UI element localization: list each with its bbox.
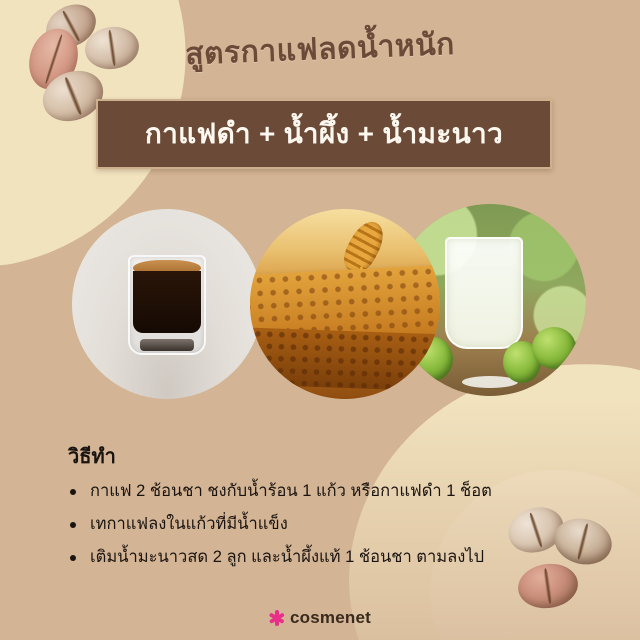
espresso-glass-icon <box>128 255 206 355</box>
instructions-list: กาแฟ 2 ช้อนชา ชงกับน้ำร้อน 1 แก้ว หรือกา… <box>68 480 600 570</box>
list-item-text: กาแฟ 2 ช้อนชา ชงกับน้ำร้อน 1 แก้ว หรือกา… <box>90 482 492 500</box>
list-item: เทกาแฟลงในแก้วที่มีน้ำแข็ง <box>90 513 600 537</box>
brand-logo: cosmenet <box>0 608 640 628</box>
ingredient-photo-row <box>0 200 640 410</box>
lime-fruit-icon <box>532 327 576 369</box>
recipe-banner-label: กาแฟดำ + น้ำผึ้ง + น้ำมะนาว <box>145 112 503 156</box>
instructions-title: วิธีทำ <box>68 440 600 472</box>
list-item-text: เติมน้ำมะนาวสด 2 ลูก และน้ำผึ้งแท้ 1 ช้อ… <box>90 548 484 566</box>
list-item: เติมน้ำมะนาวสด 2 ลูก และน้ำผึ้งแท้ 1 ช้อ… <box>90 546 600 570</box>
lime-juice-glass-icon <box>445 237 523 349</box>
honey-image <box>250 209 440 399</box>
list-item-text: เทกาแฟลงในแก้วที่มีน้ำแข็ง <box>90 515 288 533</box>
honeycomb-icon <box>250 327 440 391</box>
instructions-section: วิธีทำ กาแฟ 2 ช้อนชา ชงกับน้ำร้อน 1 แก้ว… <box>68 440 600 579</box>
photo-honey <box>250 209 440 399</box>
black-coffee-image <box>72 209 262 399</box>
bullet-icon <box>70 522 76 528</box>
recipe-poster: สูตรกาแฟลดน้ำหนัก กาแฟดำ + น้ำผึ้ง + น้ำ… <box>0 0 640 640</box>
list-item: กาแฟ 2 ช้อนชา ชงกับน้ำร้อน 1 แก้ว หรือกา… <box>90 480 600 504</box>
bullet-icon <box>70 489 76 495</box>
photo-black-coffee <box>72 209 262 399</box>
recipe-banner: กาแฟดำ + น้ำผึ้ง + น้ำมะนาว <box>96 99 552 169</box>
brand-logo-text: cosmenet <box>290 608 371 628</box>
asterisk-flower-icon <box>269 610 285 626</box>
bullet-icon <box>70 555 76 561</box>
